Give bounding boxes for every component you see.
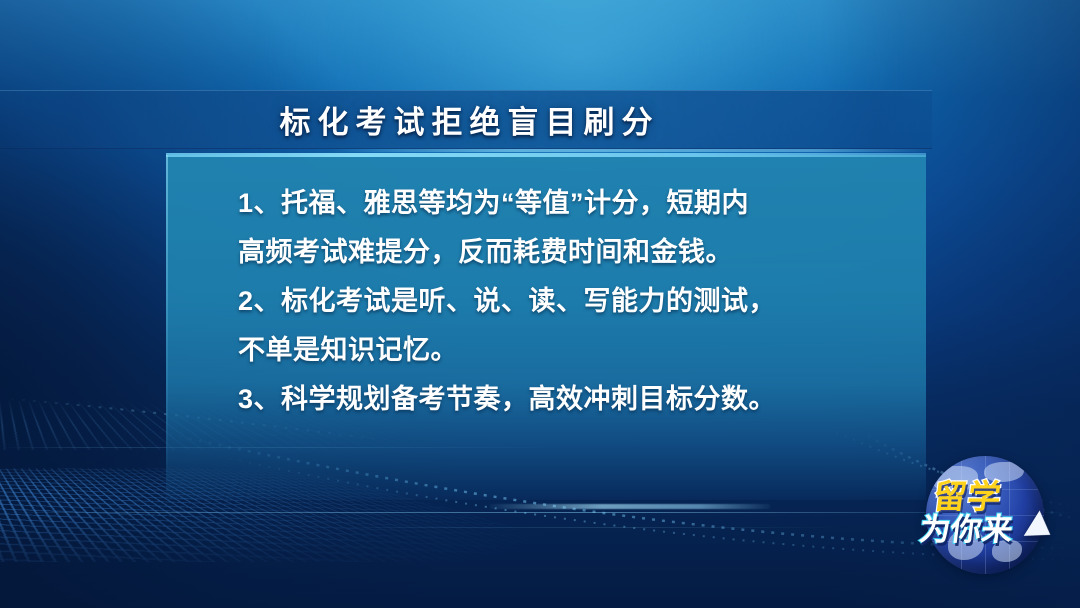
logo-title-secondary: 为你来	[917, 504, 1016, 549]
title-underline	[330, 149, 932, 152]
background-accent-bar	[490, 504, 770, 509]
body-line: 1、托福、雅思等均为“等值”计分，短期内	[238, 179, 892, 228]
background-rule-lower	[330, 527, 850, 528]
content-panel-body: 1、托福、雅思等均为“等值”计分，短期内 高频考试难提分，反而耗费时间和金钱。 …	[166, 155, 926, 500]
program-logo: 留学 为你来	[916, 452, 1056, 580]
body-line: 不单是知识记忆。	[238, 326, 892, 375]
body-line: 2、标化考试是听、说、读、写能力的测试，	[238, 277, 892, 326]
page-title: 标化考试拒绝盲目刷分	[0, 90, 932, 149]
body-line: 高频考试难提分，反而耗费时间和金钱。	[238, 228, 892, 277]
slide-canvas: 标化考试拒绝盲目刷分 1、托福、雅思等均为“等值”计分，短期内 高频考试难提分，…	[0, 0, 1080, 608]
body-line: 3、科学规划备考节奏，高效冲刺目标分数。	[238, 375, 892, 424]
